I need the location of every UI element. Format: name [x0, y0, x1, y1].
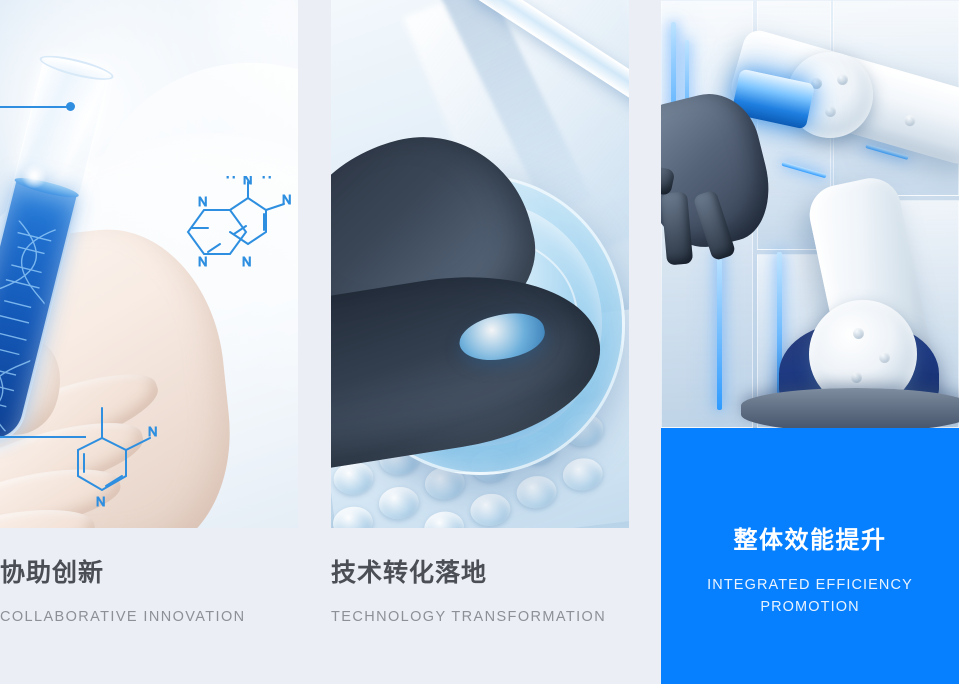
pointer-dot-icon [66, 102, 75, 111]
svg-text:N: N [243, 176, 252, 187]
gripper-claw [661, 161, 675, 196]
microplate-well [561, 456, 605, 493]
bolt-icon [837, 74, 848, 85]
microplate-well [422, 509, 466, 528]
card-title-cn: 技术转化落地 [331, 558, 629, 589]
svg-text:N: N [148, 424, 157, 439]
card-title-en: TECHNOLOGY TRANSFORMATION [331, 608, 629, 627]
robot-arm-scene [661, 0, 959, 428]
svg-text:N: N [242, 254, 251, 269]
bolt-icon [879, 352, 890, 363]
microplate-well [469, 492, 513, 528]
bolt-icon [825, 106, 836, 117]
svg-text:H: H [226, 176, 235, 181]
card-caption: 协助创新 COLLABORATIVE INNOVATION [0, 528, 298, 627]
molecule-diagram-pyridine: N N [62, 404, 180, 512]
svg-text:N: N [198, 254, 207, 269]
svg-text:N: N [282, 192, 291, 207]
robot-base-pedestal [741, 388, 959, 428]
bolt-icon [853, 328, 864, 339]
petri-dish-scene [331, 0, 629, 528]
microplate-well [331, 504, 375, 528]
feature-card-collaborative-innovation[interactable]: N N N N N H H [0, 0, 298, 684]
card-title-en: COLLABORATIVE INNOVATION [0, 608, 298, 627]
feature-card-board: N N N N N H H [0, 0, 959, 684]
card-title-en: INTEGRATED EFFICIENCY PROMOTION [695, 574, 925, 619]
pointer-line [0, 436, 86, 438]
card-title-cn: 整体效能提升 [734, 520, 887, 555]
card-image-collaborative-innovation: N N N N N H H [0, 0, 298, 528]
card-image-technology-transformation [331, 0, 629, 528]
svg-text:N: N [96, 494, 105, 509]
bolt-icon [851, 372, 862, 383]
test-tube-scene: N N N N N H H [0, 0, 298, 528]
microplate-well [377, 485, 421, 522]
pointer-line [0, 106, 72, 108]
highlight-caption-panel: 整体效能提升 INTEGRATED EFFICIENCY PROMOTION [661, 428, 959, 684]
card-image-integrated-efficiency-promotion [661, 0, 959, 428]
bolt-icon [903, 114, 917, 128]
microplate-well [515, 474, 559, 511]
gripper-claw [661, 191, 693, 265]
neon-light [717, 250, 722, 410]
svg-text:N: N [198, 194, 207, 209]
card-title-cn: 协助创新 [0, 558, 298, 589]
molecule-diagram-purine: N N N N N H H [164, 176, 296, 294]
feature-card-integrated-efficiency-promotion[interactable]: 整体效能提升 INTEGRATED EFFICIENCY PROMOTION [661, 0, 959, 684]
feature-card-technology-transformation[interactable]: 技术转化落地 TECHNOLOGY TRANSFORMATION [331, 0, 629, 684]
card-caption: 技术转化落地 TECHNOLOGY TRANSFORMATION [331, 528, 629, 627]
svg-text:H: H [262, 176, 271, 181]
